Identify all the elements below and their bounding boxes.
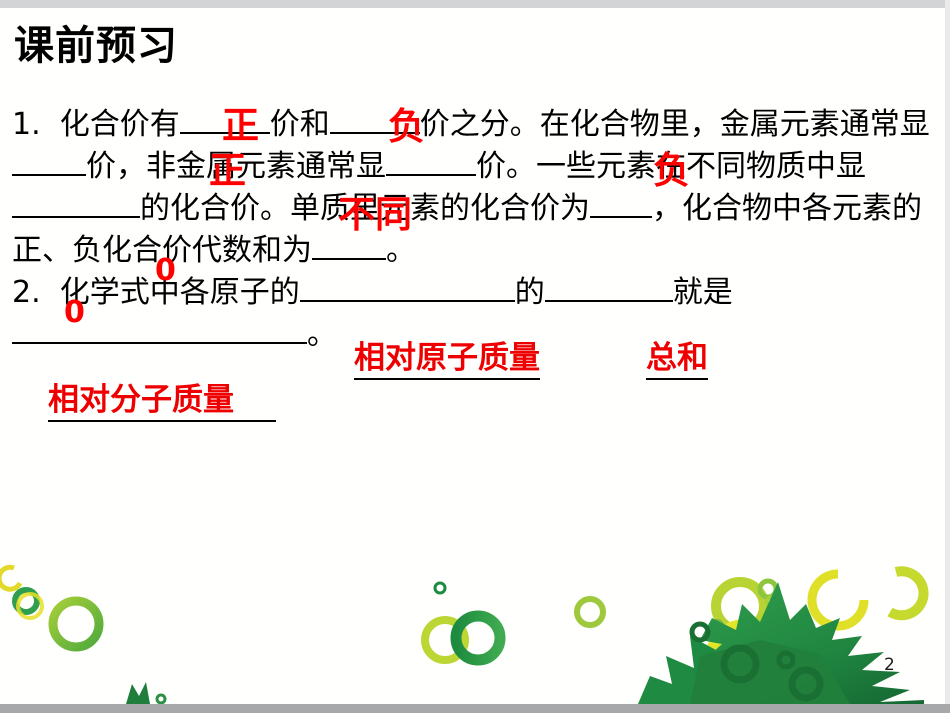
- blank-6[interactable]: [590, 216, 652, 218]
- blank-4[interactable]: [386, 174, 476, 176]
- item-2-seg-2: 的: [515, 275, 545, 310]
- answer-2: 负: [388, 108, 425, 145]
- slide-edge-bottom: [0, 704, 950, 713]
- lesson-body: 1. 化合价有价和价之分。在化合物里，金属元素通常显价，非金属元素通常显价。一些…: [12, 104, 937, 356]
- slide-edge-top: [0, 0, 950, 8]
- item-2-number: 2.: [12, 275, 41, 310]
- answer-8: 相对原子质量: [354, 343, 540, 380]
- item-2-seg-4: 。: [307, 317, 337, 352]
- item-1-seg-8: 。: [386, 233, 416, 268]
- blank-3[interactable]: [12, 174, 86, 176]
- answer-4: 负: [653, 152, 690, 189]
- blank-8[interactable]: [300, 300, 515, 302]
- item-1-seg-3: 价之分。在化合物里，金属元素通常显: [420, 107, 930, 142]
- answer-1: 正: [222, 107, 259, 144]
- page-title: 课前预习: [14, 24, 178, 68]
- question-item-1: 1. 化合价有价和价之分。在化合物里，金属元素通常显价，非金属元素通常显价。一些…: [12, 104, 937, 272]
- page-number: 2: [884, 655, 895, 675]
- answer-6: 0: [155, 256, 176, 286]
- answer-3: 正: [209, 152, 246, 189]
- answer-9: 总和: [646, 343, 708, 380]
- answer-5: 不同: [338, 196, 412, 233]
- item-1-seg-1: 化合价有: [60, 107, 180, 142]
- slide-canvas: 课前预习 1. 化合价有价和价之分。在化合物里，金属元素通常显价，非金属元素通常…: [0, 0, 950, 713]
- slide-edge-right: [945, 0, 950, 713]
- blank-5[interactable]: [12, 216, 140, 218]
- item-1-seg-2: 价和: [270, 107, 330, 142]
- item-2-seg-3: 就是: [673, 275, 733, 310]
- item-1-number: 1.: [12, 107, 41, 142]
- answer-10: 相对分子质量: [48, 385, 276, 422]
- item-2-seg-1: 化学式中各原子的: [60, 275, 300, 310]
- answer-7: 0: [64, 298, 85, 328]
- blank-9[interactable]: [545, 300, 673, 302]
- blank-7[interactable]: [312, 258, 386, 260]
- blank-10[interactable]: [12, 342, 307, 344]
